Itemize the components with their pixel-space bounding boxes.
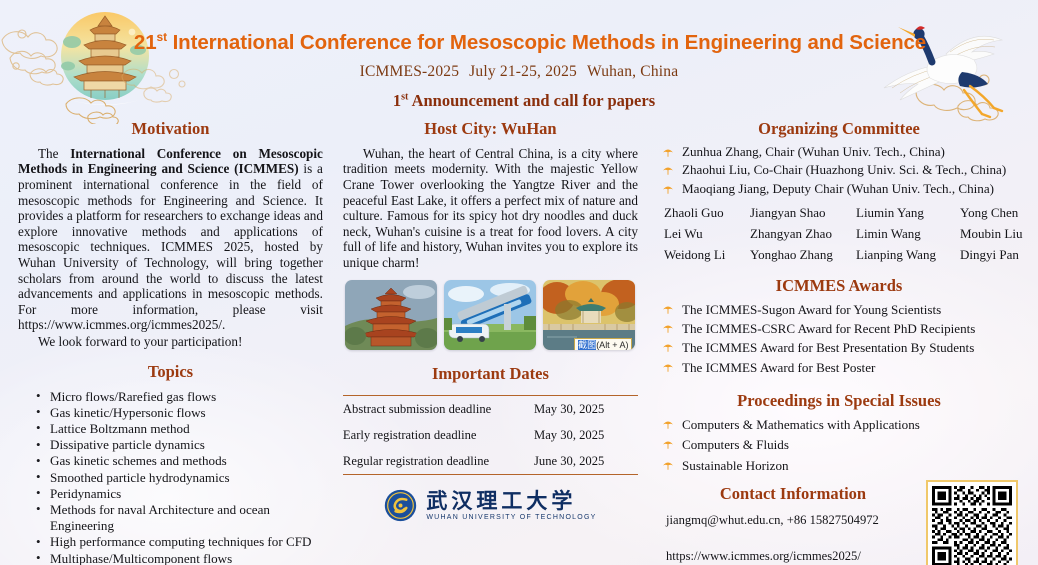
list-item: Zhaohui Liu, Co-Chair (Huazhong Univ. Sc…	[654, 161, 1024, 180]
umbrella-bullet-icon	[662, 362, 674, 373]
list-item: Peridynamics	[34, 486, 323, 502]
motivation-closing: We look forward to your participation!	[18, 334, 323, 350]
list-item: Dissipative particle dynamics	[34, 437, 323, 453]
table-row: Early registration deadline May 30, 2025	[343, 422, 638, 448]
committee-member: Weidong Li	[664, 247, 750, 263]
committee-member: Lei Wu	[664, 226, 750, 242]
committee-member: Zhaoli Guo	[664, 205, 750, 221]
umbrella-bullet-icon	[662, 439, 674, 450]
conference-poster: 21st International Conference for Mesosc…	[0, 0, 1038, 565]
announcement-line: 1st Announcement and call for papers	[10, 91, 1038, 111]
committee-member: Moubin Liu	[960, 226, 1038, 242]
wuhan-university-of-technology-logo: 武汉理工大学 WUHAN UNIVERSITY OF TECHNOLOGY	[343, 489, 638, 522]
committee-member: Limin Wang	[856, 226, 960, 242]
conference-qr-code	[926, 480, 1018, 565]
conference-subtitle: ICMMES-2025July 21-25, 2025Wuhan, China	[10, 63, 1038, 81]
list-item: Computers & Mathematics with Application…	[654, 415, 1024, 435]
list-item: The ICMMES-CSRC Award for Recent PhD Rec…	[654, 319, 1024, 338]
date-label: Regular registration deadline	[343, 448, 534, 475]
host-city-heading: Host City: WuHan	[343, 119, 638, 139]
list-item: Zunhua Zhang, Chair (Wuhan Univ. Tech., …	[654, 143, 1024, 162]
proceedings-list: Computers & Mathematics with Application…	[654, 415, 1024, 476]
screenshot-tooltip: 截图(Alt + A)	[574, 338, 632, 350]
awards-list: The ICMMES-Sugon Award for Young Scienti…	[654, 300, 1024, 378]
topics-heading: Topics	[18, 362, 323, 382]
host-city-text: Wuhan, the heart of Central China, is a …	[343, 146, 638, 271]
page-title: 21st International Conference for Mesosc…	[22, 30, 1038, 55]
table-row: Regular registration deadline June 30, 2…	[343, 448, 638, 475]
umbrella-bullet-icon	[662, 460, 674, 471]
motivation-text: The International Conference on Mesoscop…	[18, 146, 323, 333]
yellow-crane-tower-photo	[345, 280, 437, 350]
column-right: Organizing Committee Zunhua Zhang, Chair…	[644, 119, 1028, 565]
conference-dates: July 21-25, 2025	[469, 63, 577, 80]
organizing-committee-heading: Organizing Committee	[654, 119, 1024, 139]
awards-heading: ICMMES Awards	[654, 276, 1024, 296]
committee-members-grid: Zhaoli Guo Jiangyan Shao Liumin Yang Yon…	[664, 205, 1024, 263]
university-name-en: WUHAN UNIVERSITY OF TECHNOLOGY	[426, 514, 596, 521]
committee-member: Liumin Yang	[856, 205, 960, 221]
whut-emblem-icon	[384, 489, 417, 522]
table-row: Abstract submission deadline May 30, 202…	[343, 395, 638, 422]
committee-member: Yonghao Zhang	[750, 247, 856, 263]
suspended-monorail-photo	[444, 280, 536, 350]
list-item: Lattice Boltzmann method	[34, 421, 323, 437]
committee-member: Lianping Wang	[856, 247, 960, 263]
committee-member: Jiangyan Shao	[750, 205, 856, 221]
date-label: Abstract submission deadline	[343, 395, 534, 422]
conference-location: Wuhan, China	[587, 63, 678, 80]
list-item: Smoothed particle hydrodynamics	[34, 470, 323, 486]
umbrella-bullet-icon	[662, 304, 674, 315]
list-item: Multiphase/Multicomponent flows	[34, 551, 323, 565]
east-lake-pavilion-photo: 截图(Alt + A)	[543, 280, 635, 350]
conference-code: ICMMES-2025	[360, 63, 460, 80]
committee-member: Zhangyan Zhao	[750, 226, 856, 242]
date-label: Early registration deadline	[343, 422, 534, 448]
motivation-heading: Motivation	[18, 119, 323, 139]
umbrella-bullet-icon	[662, 342, 674, 353]
host-city-image-strip: 截图(Alt + A)	[343, 280, 638, 350]
important-dates-table: Abstract submission deadline May 30, 202…	[343, 391, 638, 475]
list-item: Sustainable Horizon	[654, 456, 1024, 476]
university-name-cn: 武汉理工大学	[426, 490, 596, 512]
contact-section: Contact Information jiangmq@whut.edu.cn,…	[654, 484, 1024, 564]
column-center: Host City: WuHan Wuhan, the heart of Cen…	[337, 119, 644, 565]
committee-member: Yong Chen	[960, 205, 1038, 221]
list-item: Computers & Fluids	[654, 435, 1024, 455]
poster-columns: Motivation The International Conference …	[0, 111, 1038, 565]
date-value: May 30, 2025	[534, 422, 638, 448]
umbrella-bullet-icon	[662, 165, 674, 176]
list-item: Methods for naval Architecture and ocean…	[34, 502, 323, 534]
list-item: Gas kinetic schemes and methods	[34, 453, 323, 469]
list-item: Micro flows/Rarefied gas flows	[34, 389, 323, 405]
important-dates-heading: Important Dates	[343, 364, 638, 384]
date-value: May 30, 2025	[534, 395, 638, 422]
umbrella-bullet-icon	[662, 323, 674, 334]
list-item: Gas kinetic/Hypersonic flows	[34, 405, 323, 421]
topics-list: Micro flows/Rarefied gas flows Gas kinet…	[18, 389, 323, 565]
column-left: Motivation The International Conference …	[10, 119, 337, 565]
list-item: The ICMMES Award for Best Presentation B…	[654, 338, 1024, 357]
proceedings-heading: Proceedings in Special Issues	[654, 391, 1024, 411]
poster-header: 21st International Conference for Mesosc…	[0, 0, 1038, 111]
list-item: The ICMMES-Sugon Award for Young Scienti…	[654, 300, 1024, 319]
umbrella-bullet-icon	[662, 419, 674, 430]
list-item: Maoqiang Jiang, Deputy Chair (Wuhan Univ…	[654, 180, 1024, 199]
committee-member: Dingyi Pan	[960, 247, 1038, 263]
list-item: High performance computing techniques fo…	[34, 534, 323, 550]
committee-chairs-list: Zunhua Zhang, Chair (Wuhan Univ. Tech., …	[654, 143, 1024, 199]
umbrella-bullet-icon	[662, 184, 674, 195]
list-item: The ICMMES Award for Best Poster	[654, 358, 1024, 377]
umbrella-bullet-icon	[662, 147, 674, 158]
qr-code-icon	[932, 486, 1012, 565]
date-value: June 30, 2025	[534, 448, 638, 475]
